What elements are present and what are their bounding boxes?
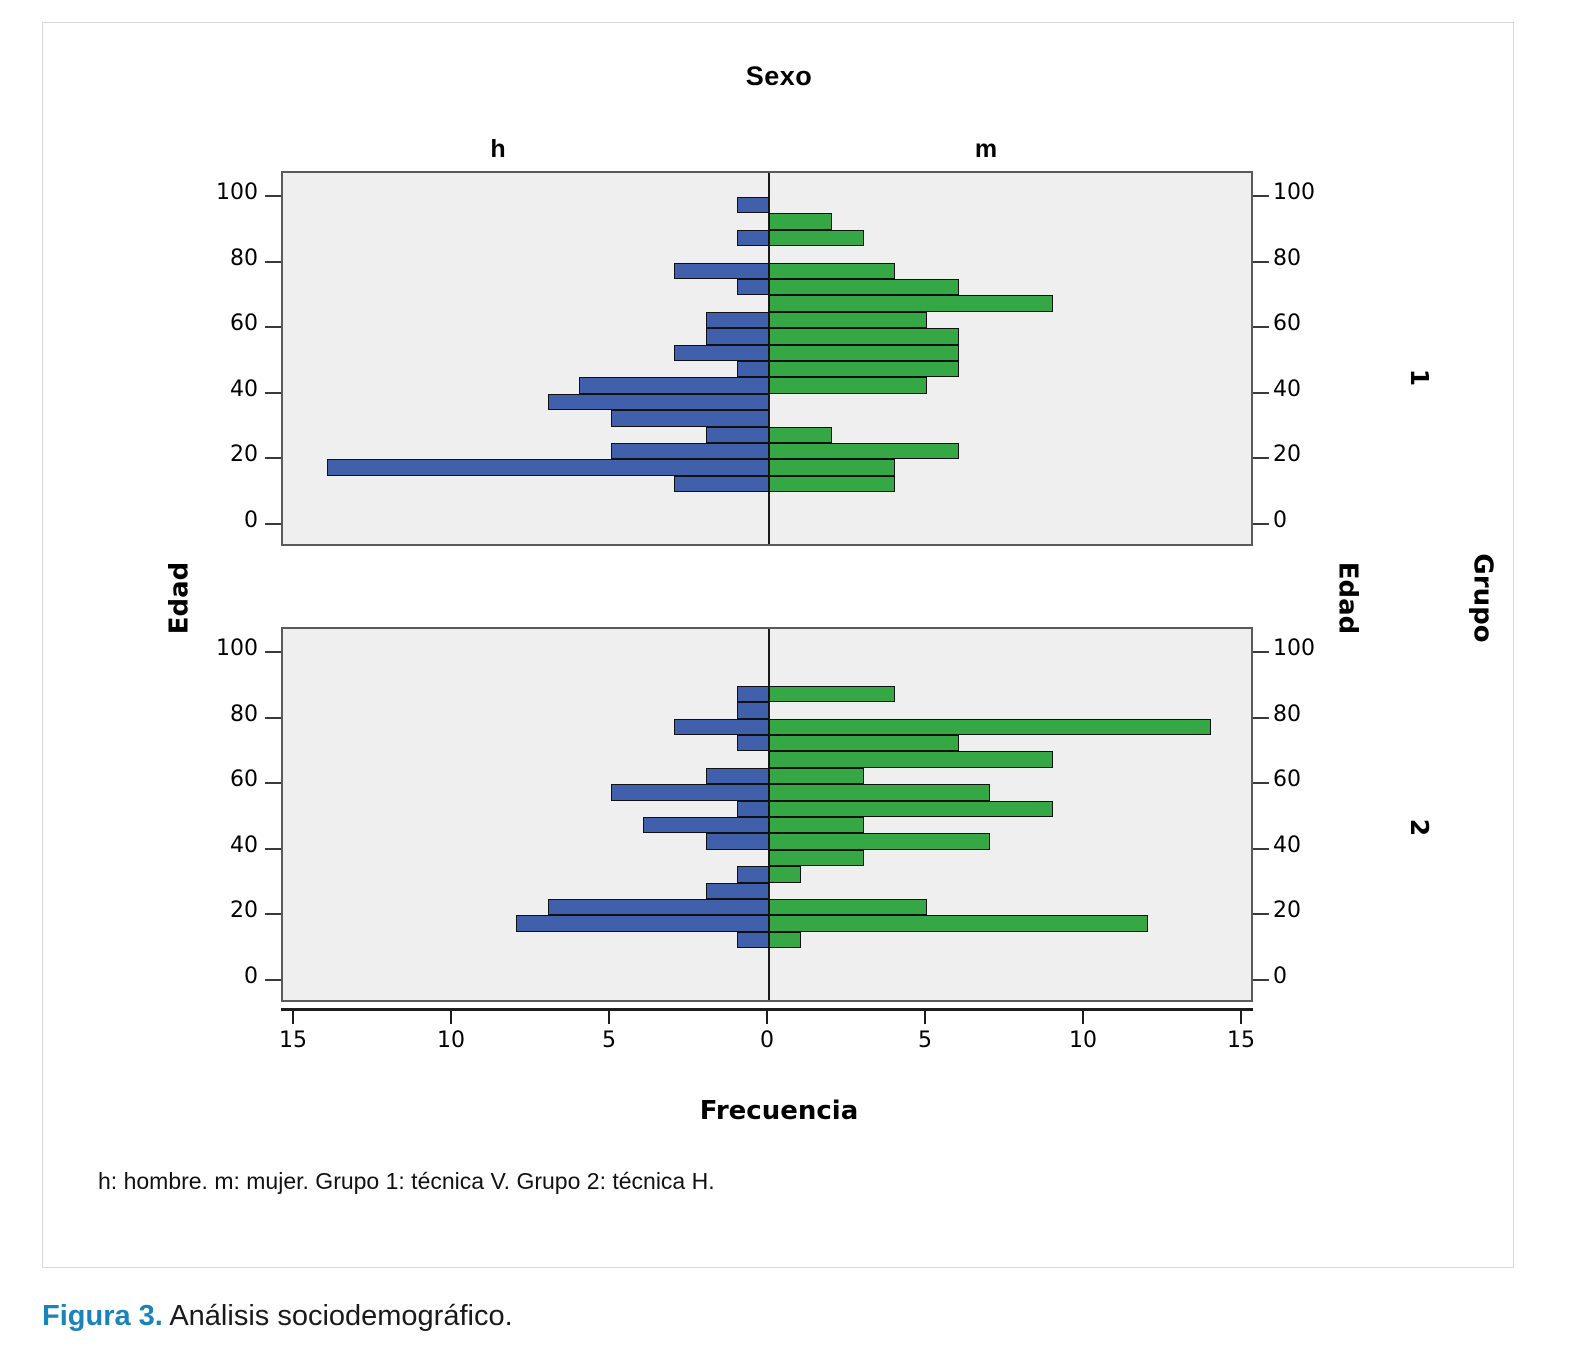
x-tick — [450, 1011, 452, 1024]
figure-note: h: hombre. m: mujer. Grupo 1: técnica V.… — [98, 1168, 715, 1195]
bar-h-40-45 — [706, 833, 769, 849]
x-tick-label: 0 — [727, 1028, 807, 1053]
x-tick — [1082, 1011, 1084, 1024]
y-tick-label-left: 0 — [186, 508, 258, 533]
y-tick-label-right: 60 — [1273, 311, 1301, 336]
y-tick-label-left: 40 — [186, 833, 258, 858]
group-axis-label: Grupo — [1468, 553, 1498, 642]
y-tick-label-right: 0 — [1273, 508, 1287, 533]
bar-m-65-70 — [769, 751, 1053, 767]
figure-number: Figura 3. — [42, 1300, 163, 1332]
y-tick-label-left: 100 — [186, 180, 258, 205]
bar-m-25-30 — [769, 427, 832, 443]
bar-m-10-15 — [769, 476, 895, 492]
bar-h-30-35 — [611, 410, 769, 426]
y-tick-label-right: 40 — [1273, 377, 1301, 402]
y-tick-label-left: 0 — [186, 964, 258, 989]
bar-m-55-60 — [769, 784, 990, 800]
figure-card: Sexo h m 1001008080606040402020001001008… — [42, 22, 1514, 1268]
y-tick-label-right: 100 — [1273, 180, 1315, 205]
y-tick-label-left: 100 — [186, 636, 258, 661]
bar-h-50-55 — [737, 801, 769, 817]
bar-h-75-80 — [674, 719, 769, 735]
y-axis-label-left: Edad — [164, 562, 194, 635]
bar-h-70-75 — [737, 735, 769, 751]
y-tick-label-left: 20 — [186, 898, 258, 923]
bar-h-60-65 — [706, 768, 769, 784]
y-tick-left — [265, 651, 281, 653]
y-tick-left — [265, 717, 281, 719]
y-tick-left — [265, 326, 281, 328]
y-tick-label-left: 60 — [186, 767, 258, 792]
bar-m-40-45 — [769, 377, 927, 393]
bar-m-60-65 — [769, 312, 927, 328]
bar-h-85-90 — [737, 230, 769, 246]
bar-h-15-20 — [327, 459, 769, 475]
x-tick — [766, 1011, 768, 1024]
bar-h-25-30 — [706, 883, 769, 899]
y-tick-right — [1253, 651, 1269, 653]
y-tick-right — [1253, 523, 1269, 525]
y-axis-label-right: Edad — [1332, 562, 1362, 635]
y-tick-label-right: 0 — [1273, 964, 1287, 989]
x-tick-label: 15 — [253, 1028, 333, 1053]
bar-h-75-80 — [674, 263, 769, 279]
y-tick-label-right: 60 — [1273, 767, 1301, 792]
x-tick — [924, 1011, 926, 1024]
bar-h-30-35 — [737, 866, 769, 882]
y-tick-left — [265, 261, 281, 263]
figure-caption: Figura 3. Análisis sociodemográfico. — [42, 1300, 513, 1333]
bar-m-70-75 — [769, 279, 959, 295]
y-tick-right — [1253, 979, 1269, 981]
bar-h-70-75 — [737, 279, 769, 295]
y-tick-label-left: 60 — [186, 311, 258, 336]
y-tick-right — [1253, 457, 1269, 459]
bar-h-40-45 — [579, 377, 769, 393]
x-tick-label: 10 — [411, 1028, 491, 1053]
x-tick — [1240, 1011, 1242, 1024]
bar-m-15-20 — [769, 459, 895, 475]
bar-m-55-60 — [769, 328, 959, 344]
x-tick-label: 15 — [1201, 1028, 1281, 1053]
y-tick-label-left: 80 — [186, 246, 258, 271]
y-tick-left — [265, 392, 281, 394]
group-1-label: 1 — [1405, 369, 1434, 386]
bar-m-50-55 — [769, 801, 1053, 817]
bar-m-20-25 — [769, 899, 927, 915]
x-tick-label: 5 — [885, 1028, 965, 1053]
bar-m-45-50 — [769, 817, 864, 833]
y-tick-right — [1253, 261, 1269, 263]
bar-h-20-25 — [548, 899, 769, 915]
bar-h-10-15 — [737, 932, 769, 948]
bar-m-90-95 — [769, 213, 832, 229]
x-tick — [608, 1011, 610, 1024]
bar-m-20-25 — [769, 443, 959, 459]
y-tick-right — [1253, 782, 1269, 784]
legend-label-h: h — [473, 135, 523, 164]
bar-h-95-100 — [737, 197, 769, 213]
y-tick-left — [265, 913, 281, 915]
figure-caption-text: Análisis sociodemográfico. — [169, 1300, 512, 1332]
bar-h-55-60 — [611, 784, 769, 800]
y-tick-label-left: 20 — [186, 442, 258, 467]
bar-m-40-45 — [769, 833, 990, 849]
figure-page: Sexo h m 1001008080606040402020001001008… — [0, 0, 1571, 1370]
bar-h-50-55 — [674, 345, 769, 361]
bar-h-45-50 — [643, 817, 769, 833]
plot-panel-group-1 — [281, 171, 1253, 546]
bar-h-80-85 — [737, 702, 769, 718]
bar-m-30-35 — [769, 866, 801, 882]
y-tick-right — [1253, 913, 1269, 915]
y-tick-left — [265, 457, 281, 459]
bar-m-50-55 — [769, 345, 959, 361]
bar-m-45-50 — [769, 361, 959, 377]
bar-m-15-20 — [769, 915, 1148, 931]
y-tick-label-right: 80 — [1273, 702, 1301, 727]
bar-h-15-20 — [516, 915, 769, 931]
x-axis-label: Frecuencia — [43, 1096, 1515, 1126]
bar-h-55-60 — [706, 328, 769, 344]
bar-h-25-30 — [706, 427, 769, 443]
bar-h-35-40 — [548, 394, 769, 410]
y-tick-left — [265, 195, 281, 197]
bar-m-60-65 — [769, 768, 864, 784]
bar-m-85-90 — [769, 230, 864, 246]
bar-h-45-50 — [737, 361, 769, 377]
x-tick-label: 10 — [1043, 1028, 1123, 1053]
bar-m-75-80 — [769, 263, 895, 279]
plot-panel-group-2 — [281, 627, 1253, 1002]
y-tick-label-right: 20 — [1273, 442, 1301, 467]
chart-title: Sexo — [43, 61, 1515, 92]
y-tick-label-right: 100 — [1273, 636, 1315, 661]
legend-label-m: m — [961, 135, 1011, 164]
y-tick-left — [265, 848, 281, 850]
bar-m-75-80 — [769, 719, 1211, 735]
group-2-label: 2 — [1405, 819, 1434, 836]
y-tick-left — [265, 782, 281, 784]
bar-m-10-15 — [769, 932, 801, 948]
y-tick-right — [1253, 717, 1269, 719]
y-tick-right — [1253, 195, 1269, 197]
bar-h-20-25 — [611, 443, 769, 459]
y-tick-label-right: 80 — [1273, 246, 1301, 271]
y-tick-label-right: 20 — [1273, 898, 1301, 923]
bar-m-85-90 — [769, 686, 895, 702]
y-tick-left — [265, 979, 281, 981]
x-tick — [292, 1011, 294, 1024]
bar-m-35-40 — [769, 850, 864, 866]
y-tick-left — [265, 523, 281, 525]
y-tick-label-left: 80 — [186, 702, 258, 727]
bar-h-10-15 — [674, 476, 769, 492]
bar-m-65-70 — [769, 295, 1053, 311]
bar-h-85-90 — [737, 686, 769, 702]
y-tick-label-right: 40 — [1273, 833, 1301, 858]
y-tick-label-left: 40 — [186, 377, 258, 402]
bar-h-60-65 — [706, 312, 769, 328]
y-tick-right — [1253, 326, 1269, 328]
bar-m-70-75 — [769, 735, 959, 751]
x-tick-label: 5 — [569, 1028, 649, 1053]
y-tick-right — [1253, 392, 1269, 394]
y-tick-right — [1253, 848, 1269, 850]
